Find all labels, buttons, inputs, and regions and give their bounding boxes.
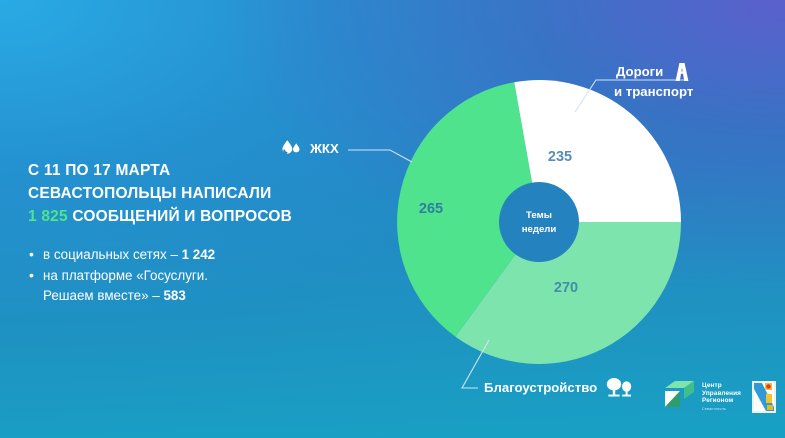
water-drop-icon bbox=[279, 139, 303, 158]
trees-icon bbox=[604, 377, 634, 397]
callout-improvement-label: Благоустройство bbox=[484, 380, 597, 395]
infographic-slide: С 11 ПО 17 МАРТА СЕВАСТОПОЛЬЦЫ НАПИСАЛИ … bbox=[0, 0, 785, 438]
callout-improvement[interactable]: Благоустройство bbox=[484, 377, 634, 397]
cur-logo-line-3: Регионом bbox=[702, 397, 741, 404]
cur-logo-line-2: Управления bbox=[702, 390, 741, 397]
cur-mark-icon bbox=[663, 379, 696, 414]
logo-group: Центр Управления Регионом Севастополь bbox=[663, 379, 776, 414]
callout-roads[interactable]: Дороги и транспорт bbox=[614, 62, 693, 101]
road-icon bbox=[671, 62, 693, 82]
callout-roads-line-1: Дороги bbox=[616, 64, 663, 81]
cur-logo[interactable]: Центр Управления Регионом Севастополь bbox=[663, 379, 741, 414]
callout-utilities[interactable]: ЖКХ bbox=[279, 139, 339, 158]
callout-utilities-label: ЖКХ bbox=[310, 141, 339, 156]
cur-logo-text: Центр Управления Регионом Севастополь bbox=[702, 382, 741, 410]
leader-line-utilities bbox=[348, 150, 412, 162]
callout-roads-line-2: и транспорт bbox=[614, 84, 693, 101]
cur-logo-subtitle: Севастополь bbox=[702, 407, 741, 411]
cur-logo-line-1: Центр bbox=[702, 382, 741, 389]
sevastopol-emblem-icon[interactable] bbox=[752, 381, 776, 413]
